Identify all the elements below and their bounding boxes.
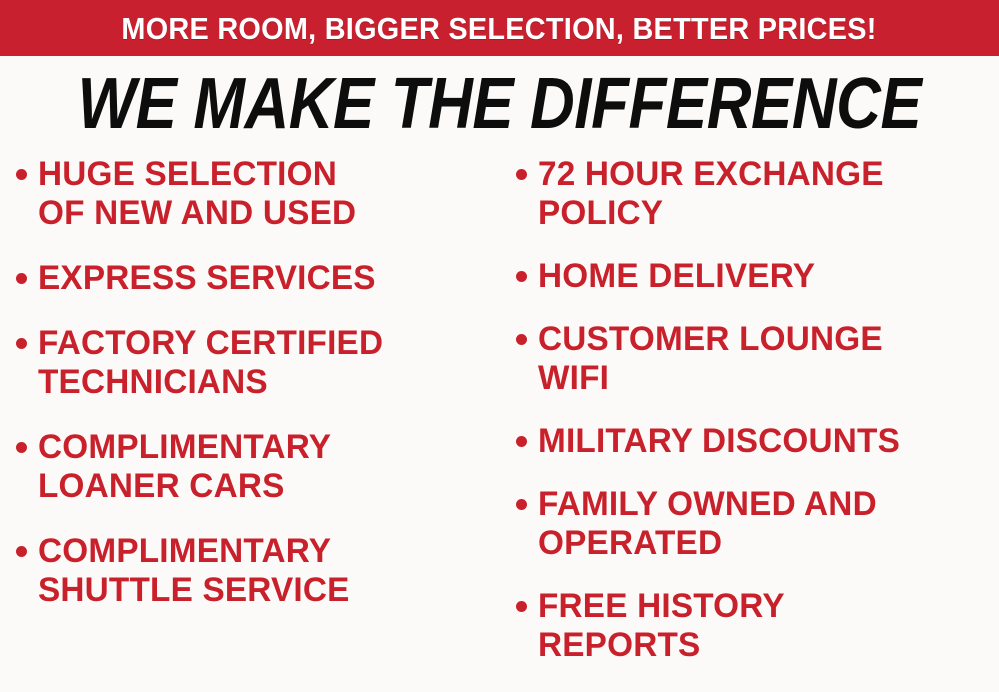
benefit-item-label: HUGE SELECTIONOF NEW AND USED	[38, 155, 356, 233]
benefit-item: HOME DELIVERY	[516, 257, 999, 296]
benefit-item-line: 72 HOUR EXCHANGE	[538, 155, 884, 194]
benefit-item-label: FREE HISTORYREPORTS	[538, 587, 785, 665]
benefit-item-line: FAMILY OWNED AND	[538, 485, 877, 524]
benefit-item-line: MILITARY DISCOUNTS	[538, 422, 900, 461]
main-headline: WE MAKE THE DIFFERENCE	[78, 68, 922, 140]
benefit-item-line: HOME DELIVERY	[538, 257, 815, 296]
promotional-banner: MORE ROOM, BIGGER SELECTION, BETTER PRIC…	[0, 0, 999, 692]
benefit-item-line: CUSTOMER LOUNGE	[538, 320, 883, 359]
bullet-dot-icon	[16, 338, 27, 349]
benefit-item-line: REPORTS	[538, 626, 785, 665]
benefit-item: FAMILY OWNED ANDOPERATED	[516, 485, 999, 563]
benefit-item-label: 72 HOUR EXCHANGEPOLICY	[538, 155, 884, 233]
benefit-item-label: EXPRESS SERVICES	[38, 259, 376, 298]
benefit-item: MILITARY DISCOUNTS	[516, 422, 999, 461]
benefit-item: 72 HOUR EXCHANGEPOLICY	[516, 155, 999, 233]
ribbon-headline-text: MORE ROOM, BIGGER SELECTION, BETTER PRIC…	[122, 13, 877, 44]
bullet-dot-icon	[516, 169, 527, 180]
benefit-item-line: OPERATED	[538, 524, 877, 563]
benefit-item-label: FAMILY OWNED ANDOPERATED	[538, 485, 877, 563]
benefits-column-left: HUGE SELECTIONOF NEW AND USEDEXPRESS SER…	[0, 155, 500, 636]
benefit-item-line: LOANER CARS	[38, 467, 331, 506]
benefit-item: FACTORY CERTIFIEDTECHNICIANS	[16, 324, 500, 402]
bullet-dot-icon	[516, 601, 527, 612]
benefit-item-line: FACTORY CERTIFIED	[38, 324, 383, 363]
benefit-item-line: EXPRESS SERVICES	[38, 259, 376, 298]
benefit-item-label: CUSTOMER LOUNGEWIFI	[538, 320, 883, 398]
benefit-item-line: COMPLIMENTARY	[38, 428, 331, 467]
bullet-dot-icon	[16, 546, 27, 557]
benefit-item-label: HOME DELIVERY	[538, 257, 815, 296]
bullet-dot-icon	[16, 442, 27, 453]
benefit-item-line: POLICY	[538, 194, 884, 233]
benefit-item-line: HUGE SELECTION	[38, 155, 356, 194]
benefit-item: CUSTOMER LOUNGEWIFI	[516, 320, 999, 398]
bullet-dot-icon	[16, 169, 27, 180]
benefit-item: HUGE SELECTIONOF NEW AND USED	[16, 155, 500, 233]
benefit-item-line: TECHNICIANS	[38, 363, 383, 402]
benefits-columns: HUGE SELECTIONOF NEW AND USEDEXPRESS SER…	[0, 155, 999, 692]
benefit-item-label: COMPLIMENTARYLOANER CARS	[38, 428, 331, 506]
benefit-item-line: COMPLIMENTARY	[38, 532, 350, 571]
benefit-item: EXPRESS SERVICES	[16, 259, 500, 298]
benefit-item-label: MILITARY DISCOUNTS	[538, 422, 900, 461]
benefit-item: COMPLIMENTARYSHUTTLE SERVICE	[16, 532, 500, 610]
bullet-dot-icon	[516, 436, 527, 447]
benefit-item: COMPLIMENTARYLOANER CARS	[16, 428, 500, 506]
bullet-dot-icon	[516, 271, 527, 282]
benefit-item-label: COMPLIMENTARYSHUTTLE SERVICE	[38, 532, 350, 610]
bullet-dot-icon	[16, 273, 27, 284]
benefit-item-label: FACTORY CERTIFIEDTECHNICIANS	[38, 324, 383, 402]
benefits-column-right: 72 HOUR EXCHANGEPOLICYHOME DELIVERYCUSTO…	[500, 155, 999, 689]
benefit-item-line: SHUTTLE SERVICE	[38, 571, 350, 610]
bullet-dot-icon	[516, 334, 527, 345]
benefit-item-line: FREE HISTORY	[538, 587, 785, 626]
benefit-item: FREE HISTORYREPORTS	[516, 587, 999, 665]
headline-container: WE MAKE THE DIFFERENCE	[0, 60, 999, 148]
benefit-item-line: OF NEW AND USED	[38, 194, 356, 233]
benefit-item-line: WIFI	[538, 359, 883, 398]
top-ribbon: MORE ROOM, BIGGER SELECTION, BETTER PRIC…	[0, 0, 999, 56]
bullet-dot-icon	[516, 499, 527, 510]
